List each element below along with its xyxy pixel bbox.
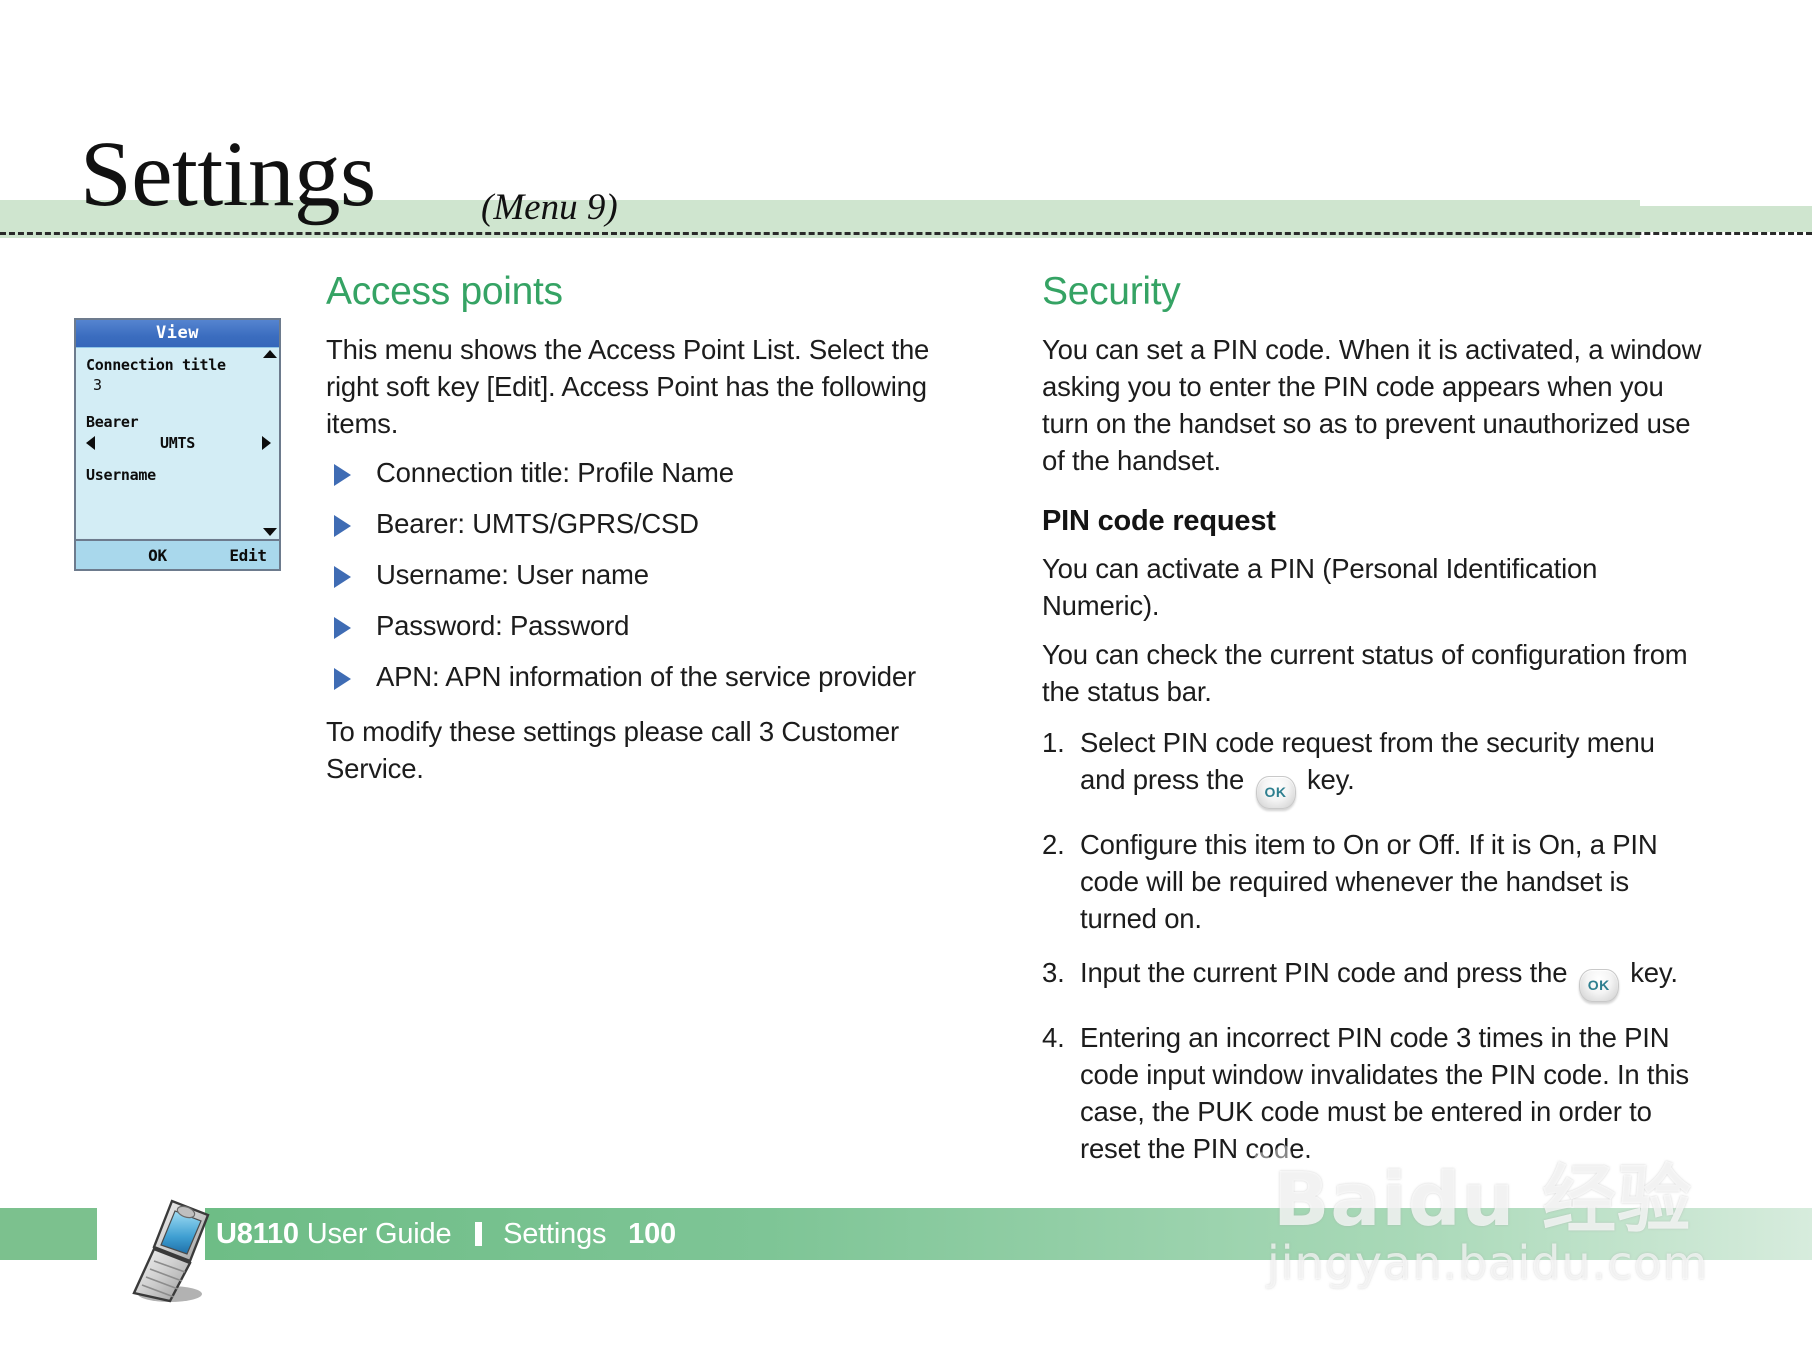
footer-caption: U8110 User Guide Settings 100: [216, 1208, 676, 1260]
page-title: Settings: [80, 128, 376, 221]
phone-field-label-username: Username: [86, 466, 269, 485]
list-item: Connection title: Profile Name: [326, 454, 981, 491]
ok-key-icon: OK: [1256, 776, 1296, 809]
triangle-down-icon: [263, 528, 277, 536]
triangle-bullet-icon: [334, 566, 351, 588]
subsection-heading-pin-code-request: PIN code request: [1042, 505, 1702, 538]
security-intro: You can set a PIN code. When it is activ…: [1042, 331, 1702, 479]
phone-softkey-bar: OK Edit: [76, 539, 279, 569]
phone-titlebar: View: [76, 320, 279, 348]
footer-separator-icon: [475, 1222, 482, 1246]
list-item: Username: User name: [326, 556, 981, 593]
phone-softkey-edit: Edit: [217, 546, 279, 565]
step-text: Configure this item to On or Off. If it …: [1080, 829, 1658, 934]
menu-reference: (Menu 9): [481, 186, 618, 229]
phone-field-row-bearer: UMTS: [86, 432, 269, 454]
page-header: Settings (Menu 9): [0, 0, 1812, 250]
phone-screenshot-figure: View Connection title 3 Bearer UMTS User…: [74, 318, 281, 571]
page-content: View Connection title 3 Bearer UMTS User…: [0, 250, 1812, 1200]
phone-field-label-bearer: Bearer: [86, 413, 269, 432]
access-points-intro: This menu shows the Access Point List. S…: [326, 331, 981, 442]
triangle-up-icon: [263, 350, 277, 358]
footer-page-number: 100: [628, 1218, 676, 1250]
triangle-left-icon: [86, 436, 95, 450]
list-item: Entering an incorrect PIN code 3 times i…: [1042, 1019, 1702, 1167]
footer-green-stub: [0, 1208, 97, 1260]
step-text: Entering an incorrect PIN code 3 times i…: [1080, 1022, 1689, 1164]
security-paragraph-1: You can activate a PIN (Personal Identif…: [1042, 550, 1702, 624]
step-text-before-key: Select PIN code request from the securit…: [1080, 727, 1655, 795]
triangle-bullet-icon: [334, 617, 351, 639]
pin-code-steps-list: Select PIN code request from the securit…: [1042, 724, 1702, 1167]
step-text-after-key: key.: [1630, 957, 1678, 988]
header-green-band-tail: [1640, 206, 1812, 232]
step-text-after-key: key.: [1307, 764, 1355, 795]
list-item-label: Bearer: UMTS/GPRS/CSD: [376, 508, 699, 539]
header-dashed-rule: [0, 232, 1812, 235]
phone-field-label-connection-title: Connection title: [86, 356, 269, 375]
access-points-bullet-list: Connection title: Profile Name Bearer: U…: [326, 454, 981, 695]
left-column: Access points This menu shows the Access…: [326, 250, 981, 799]
triangle-bullet-icon: [334, 464, 351, 486]
access-points-closing: To modify these settings please call 3 C…: [326, 713, 981, 787]
phone-field-value-connection-title: 3: [86, 375, 269, 395]
ok-key-icon: OK: [1579, 969, 1619, 1002]
list-item: Input the current PIN code and press the…: [1042, 954, 1702, 1002]
section-heading-security: Security: [1042, 250, 1702, 314]
section-heading-access-points: Access points: [326, 250, 981, 314]
flip-phone-icon: [128, 1189, 218, 1305]
triangle-bullet-icon: [334, 515, 351, 537]
phone-softkey-ok: OK: [76, 546, 217, 565]
footer-section: Settings: [503, 1218, 606, 1250]
triangle-bullet-icon: [334, 668, 351, 690]
list-item: Configure this item to On or Off. If it …: [1042, 826, 1702, 937]
phone-screen: Connection title 3 Bearer UMTS Username: [76, 348, 279, 538]
list-item-label: Password: Password: [376, 610, 629, 641]
list-item: Password: Password: [326, 607, 981, 644]
list-item-label: APN: APN information of the service prov…: [376, 661, 916, 692]
list-item-label: Connection title: Profile Name: [376, 457, 734, 488]
list-item: APN: APN information of the service prov…: [326, 658, 981, 695]
footer-model: U8110: [216, 1218, 299, 1250]
page-footer: U8110 User Guide Settings 100: [0, 1196, 1812, 1266]
right-column: Security You can set a PIN code. When it…: [1042, 250, 1702, 1184]
list-item-label: Username: User name: [376, 559, 649, 590]
triangle-right-icon: [262, 436, 271, 450]
security-paragraph-2: You can check the current status of conf…: [1042, 636, 1702, 710]
list-item: Select PIN code request from the securit…: [1042, 724, 1702, 809]
step-text-before-key: Input the current PIN code and press the: [1080, 957, 1567, 988]
phone-field-value-bearer: UMTS: [160, 434, 195, 452]
footer-guide-label: User Guide: [307, 1218, 452, 1250]
list-item: Bearer: UMTS/GPRS/CSD: [326, 505, 981, 542]
